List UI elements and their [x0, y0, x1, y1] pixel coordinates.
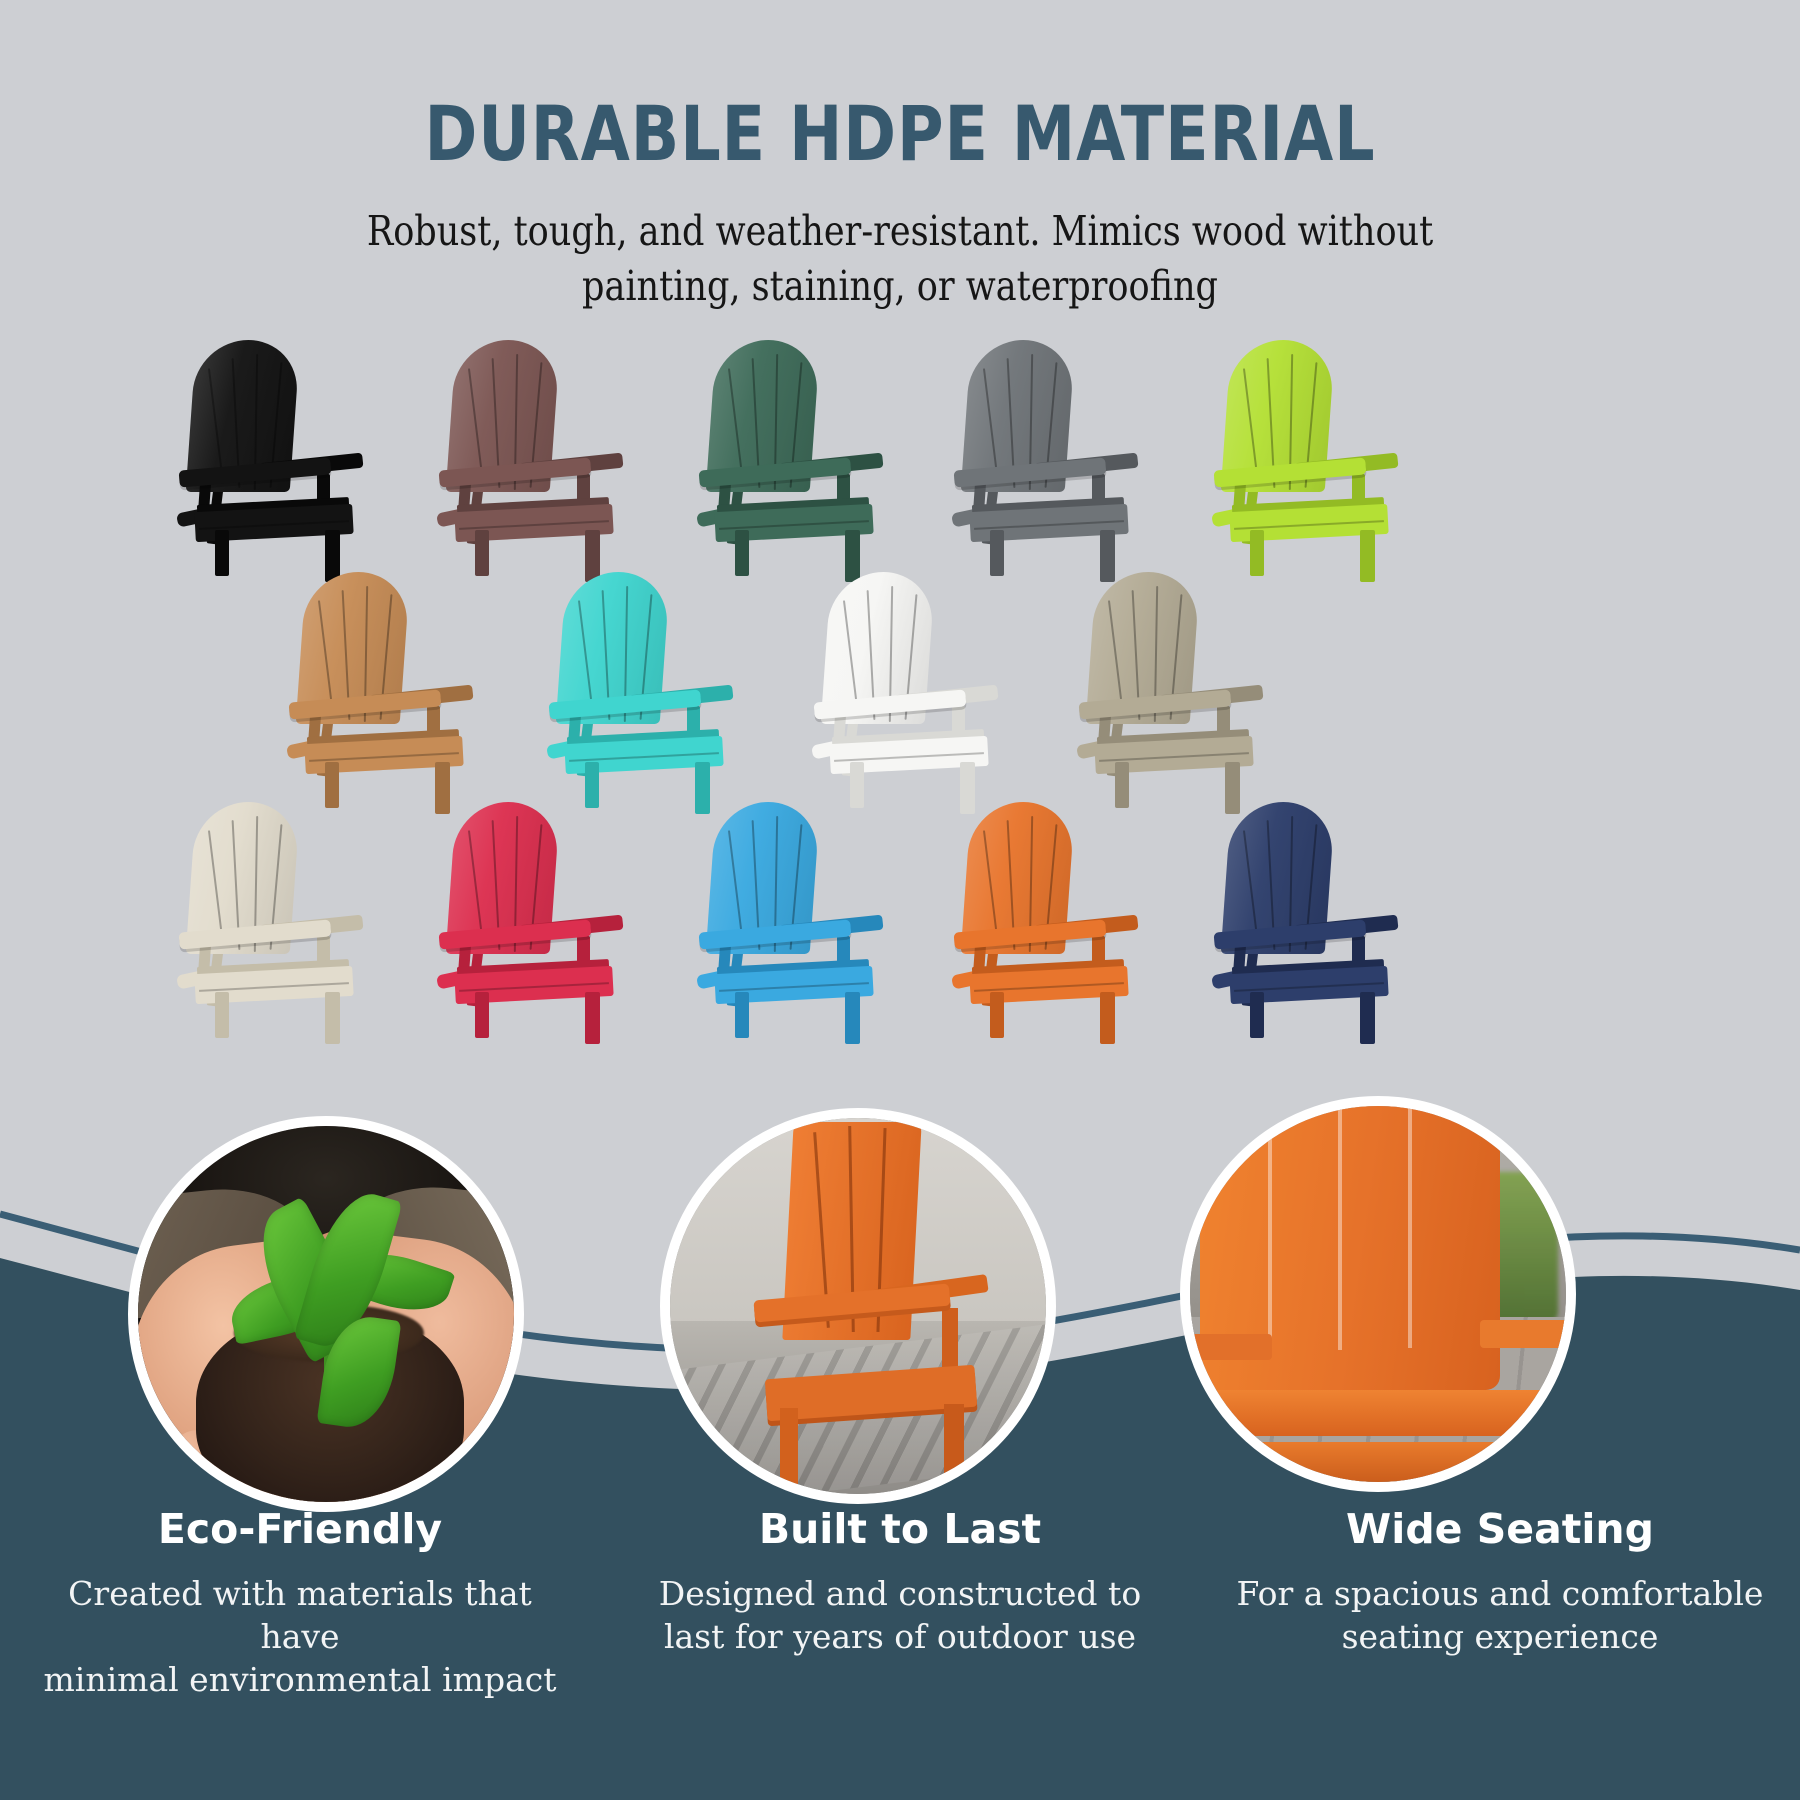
feature-body: Designed and constructed to last for yea… [626, 1573, 1174, 1659]
adirondack-chair-icon [675, 338, 925, 588]
chair-swatch-gray[interactable] [930, 338, 1180, 588]
adirondack-chair-icon [155, 338, 405, 588]
adirondack-chair-icon [525, 570, 775, 820]
chair-row [0, 338, 1800, 588]
feature-card-eco-friendly: Eco-Friendly Created with materials that… [0, 1505, 600, 1702]
page-title: DURABLE HDPE MATERIAL [63, 96, 1737, 172]
feature-title: Eco-Friendly [26, 1505, 574, 1553]
chair-swatch-turquoise[interactable] [525, 570, 775, 820]
feature-body-line-1: Created with materials that have [26, 1573, 574, 1659]
chair-swatch-brown[interactable] [415, 338, 665, 588]
adirondack-chair-icon [415, 800, 665, 1050]
adirondack-chair-icon [1055, 570, 1305, 820]
feature-card-built-to-last: Built to Last Designed and constructed t… [600, 1505, 1200, 1702]
feature-body-line-1: For a spacious and comfortable [1226, 1573, 1774, 1616]
subtitle-line-1: Robust, tough, and weather-resistant. Mi… [45, 204, 1755, 259]
chair-swatch-black[interactable] [155, 338, 405, 588]
feature-photo-wide-seating[interactable] [1180, 1096, 1576, 1492]
chair-swatch-orange[interactable] [930, 800, 1180, 1050]
chair-swatch-khaki[interactable] [1055, 570, 1305, 820]
feature-body: For a spacious and comfortable seating e… [1226, 1573, 1774, 1659]
chair-swatch-teak-tan[interactable] [265, 570, 515, 820]
header-section: DURABLE HDPE MATERIAL Robust, tough, and… [0, 0, 1800, 314]
feature-body-line-2: minimal environmental impact [26, 1659, 574, 1702]
feature-body-line-2: seating experience [1226, 1616, 1774, 1659]
adirondack-chair-icon [675, 800, 925, 1050]
feature-captions: Eco-Friendly Created with materials that… [0, 1505, 1800, 1702]
adirondack-chair-icon [930, 338, 1180, 588]
adirondack-chair-icon [1190, 338, 1440, 588]
feature-title: Built to Last [626, 1505, 1174, 1553]
adirondack-chair-icon [155, 800, 405, 1050]
adirondack-chair-icon [1190, 800, 1440, 1050]
feature-title: Wide Seating [1226, 1505, 1774, 1553]
chair-row [0, 570, 1800, 820]
feature-photo-built-to-last[interactable] [660, 1108, 1056, 1504]
feature-card-wide-seating: Wide Seating For a spacious and comforta… [1200, 1505, 1800, 1702]
adirondack-chair-icon [930, 800, 1180, 1050]
adirondack-chair-icon [265, 570, 515, 820]
feature-photo-eco-friendly[interactable] [128, 1116, 524, 1512]
feature-body: Created with materials that have minimal… [26, 1573, 574, 1702]
chair-swatch-dark-green[interactable] [675, 338, 925, 588]
subtitle-line-2: painting, staining, or waterproofing [45, 259, 1755, 314]
chair-swatch-navy[interactable] [1190, 800, 1440, 1050]
chair-row [0, 800, 1800, 1050]
chair-swatch-ivory[interactable] [155, 800, 405, 1050]
chair-swatch-red[interactable] [415, 800, 665, 1050]
page-subtitle: Robust, tough, and weather-resistant. Mi… [45, 204, 1755, 314]
hands-holding-seedling-photo [138, 1126, 514, 1502]
orange-adirondack-chair-patio-photo [670, 1118, 1046, 1494]
adirondack-chair-icon [415, 338, 665, 588]
feature-body-line-2: last for years of outdoor use [626, 1616, 1174, 1659]
orange-chair-wide-seat-closeup-photo [1190, 1106, 1566, 1482]
chair-swatch-light-blue[interactable] [675, 800, 925, 1050]
chair-swatch-white[interactable] [790, 570, 1040, 820]
infographic-canvas: DURABLE HDPE MATERIAL Robust, tough, and… [0, 0, 1800, 1800]
adirondack-chair-icon [790, 570, 1040, 820]
chair-swatch-lime-green[interactable] [1190, 338, 1440, 588]
feature-body-line-1: Designed and constructed to [626, 1573, 1174, 1616]
